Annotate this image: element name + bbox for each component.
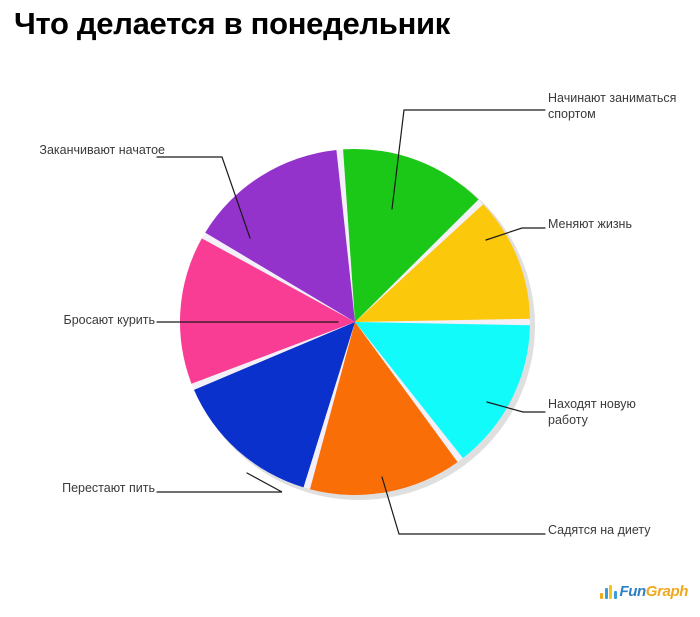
pie-label-life: Меняют жизнь xyxy=(548,216,698,232)
logo-text-graph: Graph xyxy=(646,583,688,600)
pie-label-job: Находят новую работу xyxy=(548,396,698,428)
fungraph-logo[interactable]: FunGraph xyxy=(600,583,688,600)
bar-chart-icon xyxy=(600,585,617,599)
pie-label-sport: Начинают заниматься спортом xyxy=(548,90,698,122)
leader-line-drink xyxy=(157,473,282,492)
pie-label-finish: Заканчивают начатое xyxy=(0,142,165,158)
pie-label-diet: Садятся на диету xyxy=(548,522,698,538)
chart-page: Что делается в понедельник xyxy=(0,0,700,617)
pie-label-smoke: Бросают курить xyxy=(0,312,155,328)
logo-text-fun: Fun xyxy=(620,583,646,600)
pie-label-drink: Перестают пить xyxy=(0,480,155,496)
logo-wordmark: FunGraph xyxy=(620,583,688,600)
